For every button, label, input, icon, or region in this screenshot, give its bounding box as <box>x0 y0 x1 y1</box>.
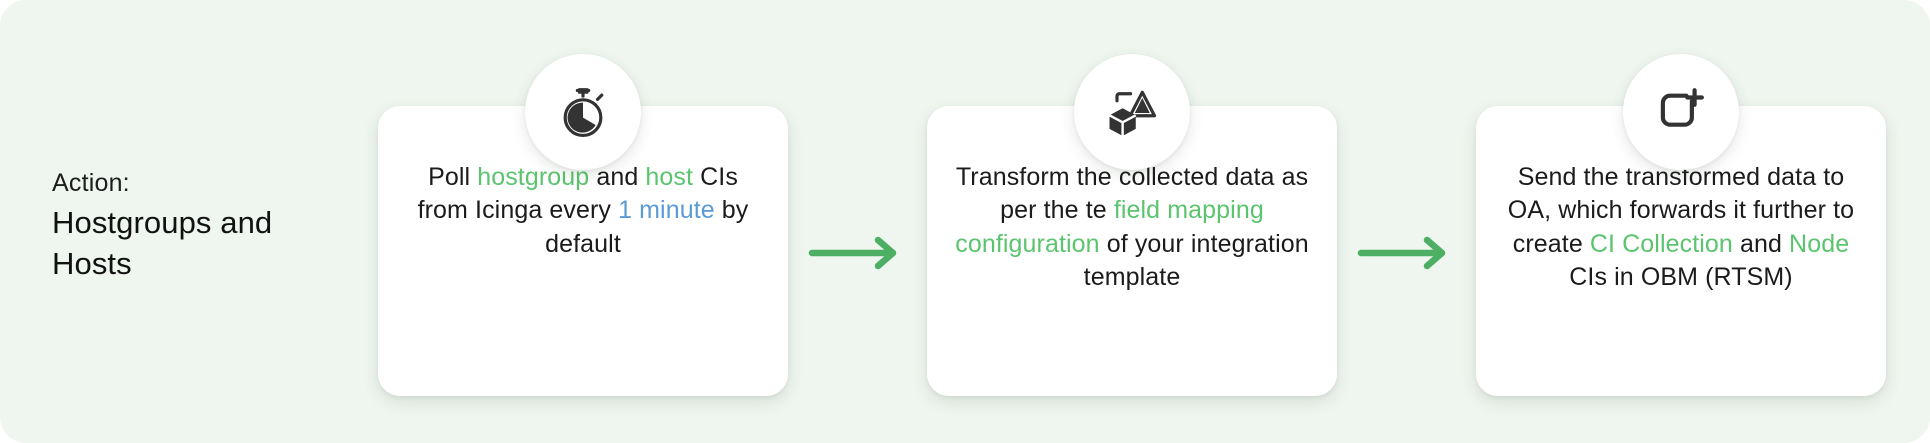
flow-step-transform: Transform the collected data as per the … <box>927 106 1337 396</box>
action-kicker: Action: <box>52 168 352 199</box>
flow-arrow-right <box>808 236 904 270</box>
step-description: Send the transformed data to OA, which f… <box>1499 161 1863 294</box>
flow-arrow-right <box>1357 236 1453 270</box>
step-description: Poll hostgroup and host CIs from Icinga … <box>401 161 765 261</box>
process-flow: Poll hostgroup and host CIs from Icinga … <box>378 0 1886 443</box>
flow-step-send: Send the transformed data to OA, which f… <box>1476 106 1886 396</box>
stopwatch-icon <box>525 54 641 170</box>
step-description: Transform the collected data as per the … <box>950 161 1314 294</box>
diagram-canvas: Action: Hostgroups and Hosts Poll hostgr… <box>0 0 1930 443</box>
flow-step-poll: Poll hostgroup and host CIs from Icinga … <box>378 106 788 396</box>
add-square-icon <box>1623 54 1739 170</box>
transform-shapes-icon <box>1074 54 1190 170</box>
action-label: Action: Hostgroups and Hosts <box>52 168 352 284</box>
action-title: Hostgroups and Hosts <box>52 203 352 284</box>
